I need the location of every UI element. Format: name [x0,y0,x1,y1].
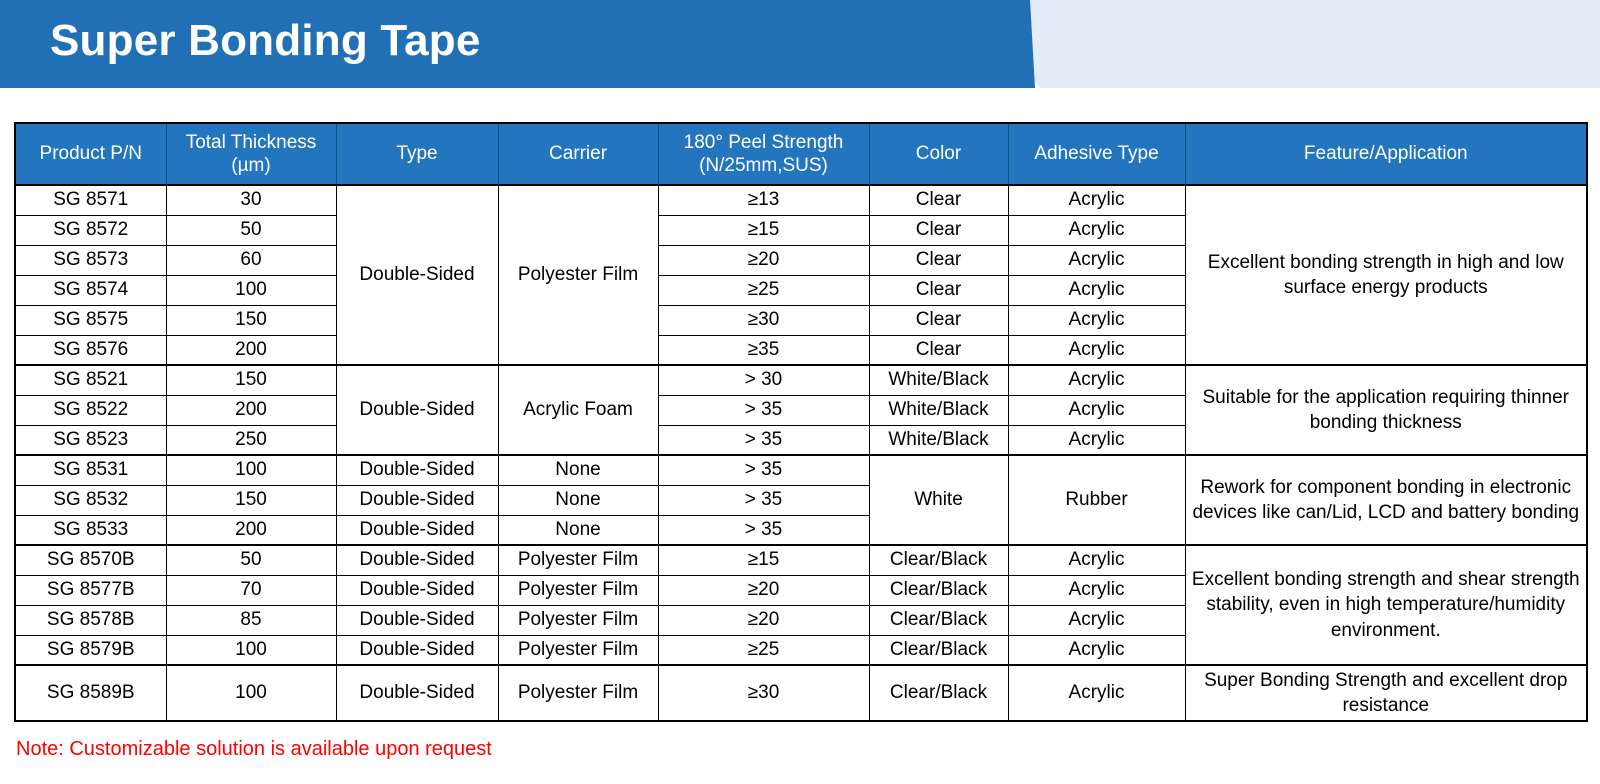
cell-product-pn: SG 8589B [15,665,166,721]
cell-product-pn: SG 8521 [15,365,166,395]
cell-thickness: 30 [166,185,336,215]
cell-color: Clear [869,305,1008,335]
col-header-feature-application: Feature/Application [1185,123,1587,185]
cell-thickness: 50 [166,215,336,245]
cell-thickness: 60 [166,245,336,275]
cell-thickness: 250 [166,425,336,455]
table-body: SG 8571 30 Double-Sided Polyester Film ≥… [15,185,1587,721]
col-header-color: Color [869,123,1008,185]
cell-peel: ≥15 [658,215,869,245]
cell-color: Clear [869,215,1008,245]
cell-type: Double-Sided [336,515,498,545]
cell-thickness: 200 [166,515,336,545]
cell-carrier: None [498,455,658,485]
cell-carrier: Polyester Film [498,635,658,665]
cell-adhesive: Acrylic [1008,365,1185,395]
cell-product-pn: SG 8523 [15,425,166,455]
cell-color: White/Black [869,365,1008,395]
cell-product-pn: SG 8576 [15,335,166,365]
cell-product-pn: SG 8578B [15,605,166,635]
cell-feature-group: Suitable for the application requiring t… [1185,365,1587,455]
col-header-type: Type [336,123,498,185]
col-header-line1: 180° Peel Strength [684,132,844,153]
table-row: SG 8531 100 Double-Sided None > 35 White… [15,455,1587,485]
cell-carrier: Polyester Film [498,605,658,635]
cell-color: Clear [869,245,1008,275]
cell-thickness: 150 [166,365,336,395]
cell-color: Clear/Black [869,575,1008,605]
cell-feature-group: Rework for component bonding in electron… [1185,455,1587,545]
cell-adhesive: Acrylic [1008,425,1185,455]
col-header-line2: (N/25mm,SUS) [699,155,828,176]
cell-type: Double-Sided [336,455,498,485]
cell-thickness: 100 [166,665,336,721]
cell-product-pn: SG 8531 [15,455,166,485]
cell-peel: ≥15 [658,545,869,575]
cell-product-pn: SG 8575 [15,305,166,335]
cell-feature-group: Excellent bonding strength and shear str… [1185,545,1587,665]
cell-peel: ≥20 [658,575,869,605]
cell-thickness: 150 [166,305,336,335]
cell-thickness: 150 [166,485,336,515]
cell-adhesive: Acrylic [1008,545,1185,575]
cell-product-pn: SG 8522 [15,395,166,425]
page-title: Super Bonding Tape [50,16,481,66]
cell-adhesive: Acrylic [1008,215,1185,245]
cell-carrier: None [498,485,658,515]
cell-thickness: 50 [166,545,336,575]
spec-table-wrap: Product P/N Total Thickness (µm) Type Ca… [14,122,1586,722]
cell-product-pn: SG 8579B [15,635,166,665]
cell-peel: > 35 [658,485,869,515]
cell-color: Clear/Black [869,635,1008,665]
cell-thickness: 85 [166,605,336,635]
cell-peel: ≥25 [658,275,869,305]
col-header-line1: Type [396,143,437,164]
cell-type: Double-Sided [336,545,498,575]
cell-peel: ≥25 [658,635,869,665]
cell-peel: ≥35 [658,335,869,365]
table-row: SG 8589B 100 Double-Sided Polyester Film… [15,665,1587,721]
cell-adhesive: Acrylic [1008,605,1185,635]
cell-thickness: 100 [166,635,336,665]
col-header-line2: (µm) [231,155,270,176]
cell-color: Clear/Black [869,605,1008,635]
cell-carrier: Polyester Film [498,665,658,721]
cell-peel: ≥20 [658,605,869,635]
cell-product-pn: SG 8574 [15,275,166,305]
cell-type-group: Double-Sided [336,185,498,365]
cell-type: Double-Sided [336,575,498,605]
col-header-line1: Total Thickness [186,132,317,153]
col-header-carrier: Carrier [498,123,658,185]
table-row: SG 8521 150 Double-Sided Acrylic Foam > … [15,365,1587,395]
cell-peel: > 30 [658,365,869,395]
col-header-line1: Color [916,143,961,164]
cell-product-pn: SG 8573 [15,245,166,275]
cell-product-pn: SG 8533 [15,515,166,545]
cell-carrier: None [498,515,658,545]
cell-color: Clear/Black [869,665,1008,721]
cell-peel: > 35 [658,455,869,485]
cell-color: White/Black [869,395,1008,425]
cell-adhesive: Acrylic [1008,185,1185,215]
cell-type: Double-Sided [336,485,498,515]
col-header-line1: Feature/Application [1304,143,1468,164]
cell-carrier: Polyester Film [498,545,658,575]
cell-thickness: 200 [166,335,336,365]
cell-peel: > 35 [658,515,869,545]
product-spec-table: Product P/N Total Thickness (µm) Type Ca… [14,122,1588,722]
cell-type: Double-Sided [336,635,498,665]
col-header-line1: Adhesive Type [1034,143,1158,164]
cell-adhesive: Acrylic [1008,305,1185,335]
cell-adhesive: Acrylic [1008,665,1185,721]
cell-color: Clear/Black [869,545,1008,575]
cell-carrier-group: Polyester Film [498,185,658,365]
cell-feature-group: Excellent bonding strength in high and l… [1185,185,1587,365]
cell-thickness: 70 [166,575,336,605]
cell-thickness: 200 [166,395,336,425]
col-header-product-pn: Product P/N [15,123,166,185]
cell-adhesive: Acrylic [1008,635,1185,665]
col-header-peel-strength: 180° Peel Strength (N/25mm,SUS) [658,123,869,185]
cell-peel: ≥30 [658,305,869,335]
cell-color-group: White [869,455,1008,545]
cell-peel: > 35 [658,395,869,425]
col-header-line1: Product P/N [40,143,142,164]
page-banner: Super Bonding Tape [0,0,1600,88]
cell-adhesive: Acrylic [1008,395,1185,425]
table-row: SG 8570B 50 Double-Sided Polyester Film … [15,545,1587,575]
cell-product-pn: SG 8571 [15,185,166,215]
cell-product-pn: SG 8572 [15,215,166,245]
cell-color: White/Black [869,425,1008,455]
col-header-adhesive-type: Adhesive Type [1008,123,1185,185]
cell-peel: ≥13 [658,185,869,215]
cell-carrier: Polyester Film [498,575,658,605]
cell-adhesive-group: Rubber [1008,455,1185,545]
table-header-row: Product P/N Total Thickness (µm) Type Ca… [15,123,1587,185]
cell-peel: ≥30 [658,665,869,721]
cell-color: Clear [869,275,1008,305]
cell-product-pn: SG 8570B [15,545,166,575]
cell-product-pn: SG 8577B [15,575,166,605]
cell-product-pn: SG 8532 [15,485,166,515]
cell-peel: ≥20 [658,245,869,275]
cell-type: Double-Sided [336,665,498,721]
col-header-total-thickness: Total Thickness (µm) [166,123,336,185]
cell-type: Double-Sided [336,605,498,635]
cell-type-group: Double-Sided [336,365,498,455]
cell-thickness: 100 [166,275,336,305]
footnote: Note: Customizable solution is available… [16,738,492,761]
cell-adhesive: Acrylic [1008,275,1185,305]
cell-carrier-group: Acrylic Foam [498,365,658,455]
cell-peel: > 35 [658,425,869,455]
cell-thickness: 100 [166,455,336,485]
cell-color: Clear [869,185,1008,215]
table-row: SG 8571 30 Double-Sided Polyester Film ≥… [15,185,1587,215]
col-header-line1: Carrier [549,143,607,164]
cell-adhesive: Acrylic [1008,575,1185,605]
cell-feature-group: Super Bonding Strength and excellent dro… [1185,665,1587,721]
cell-color: Clear [869,335,1008,365]
cell-adhesive: Acrylic [1008,245,1185,275]
cell-adhesive: Acrylic [1008,335,1185,365]
